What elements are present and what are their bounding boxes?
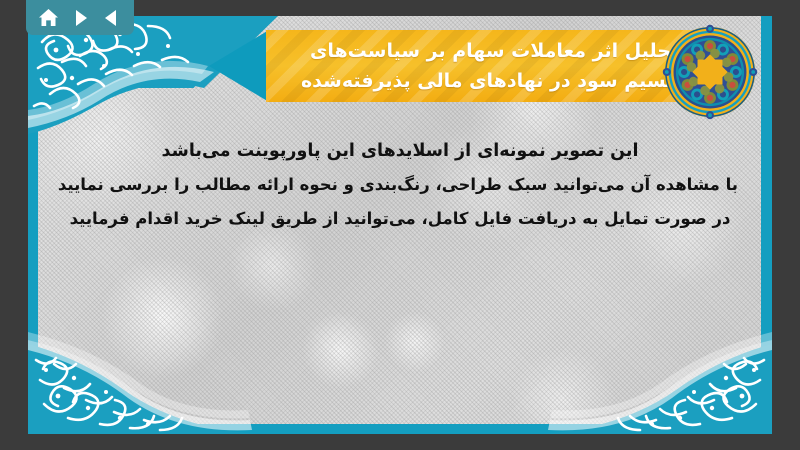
home-button[interactable] — [35, 5, 61, 31]
previous-slide-button[interactable] — [99, 5, 125, 31]
arrow-left-icon — [101, 7, 123, 29]
slide-body-text: این تصویر نمونه‌ای از اسلایدهای این پاور… — [62, 134, 738, 236]
body-text-line-1: این تصویر نمونه‌ای از اسلایدهای این پاور… — [62, 134, 738, 168]
next-slide-button[interactable] — [67, 5, 93, 31]
slide-border-bottom — [28, 424, 772, 434]
slide-border-right — [761, 16, 772, 434]
slide-canvas: تحلیل اثر معاملات سهام بر سیاست‌های تقسی… — [28, 16, 772, 434]
body-text-line-3: در صورت تمایل به دریافت فایل کامل، می‌تو… — [62, 202, 738, 236]
body-text-line-2: با مشاهده آن می‌توانید سبک طراحی، رنگ‌بن… — [62, 168, 738, 202]
slide-navigation-bar — [26, 0, 134, 35]
arrow-right-icon — [69, 7, 91, 29]
home-icon — [37, 6, 60, 29]
presentation-viewer: تحلیل اثر معاملات سهام بر سیاست‌های تقسی… — [0, 0, 800, 450]
